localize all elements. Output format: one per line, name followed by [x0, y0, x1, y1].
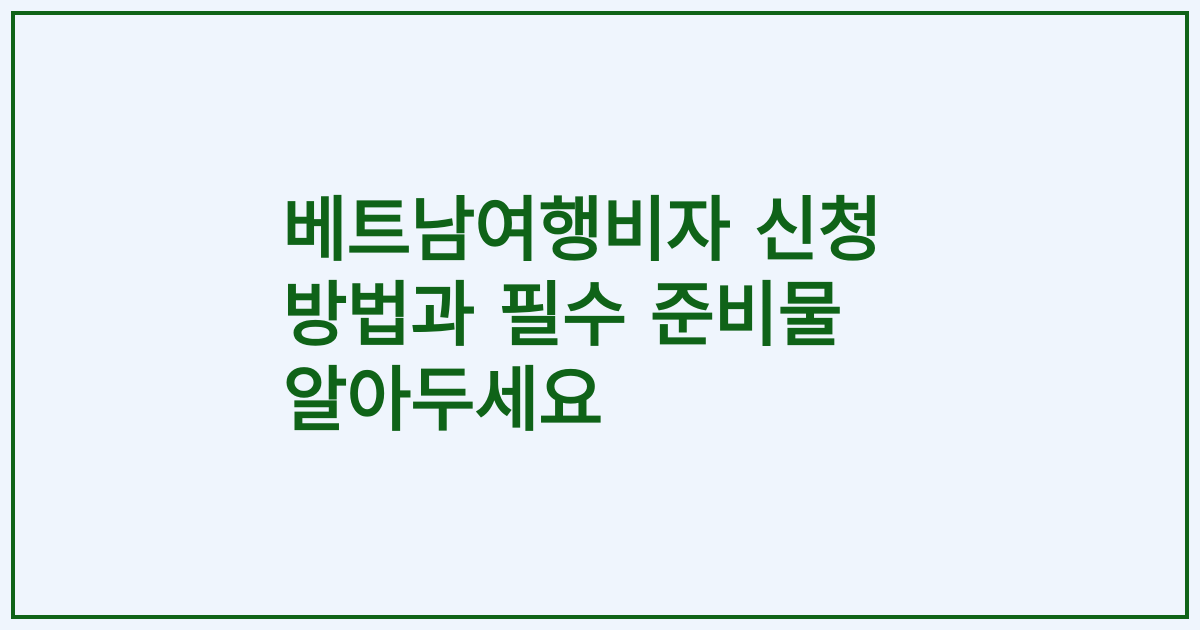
title-card: 베트남여행비자 신청 방법과 필수 준비물 알아두세요 — [0, 0, 1200, 630]
page-title: 베트남여행비자 신청 방법과 필수 준비물 알아두세요 — [283, 188, 943, 443]
title-block: 베트남여행비자 신청 방법과 필수 준비물 알아두세요 — [283, 0, 943, 630]
